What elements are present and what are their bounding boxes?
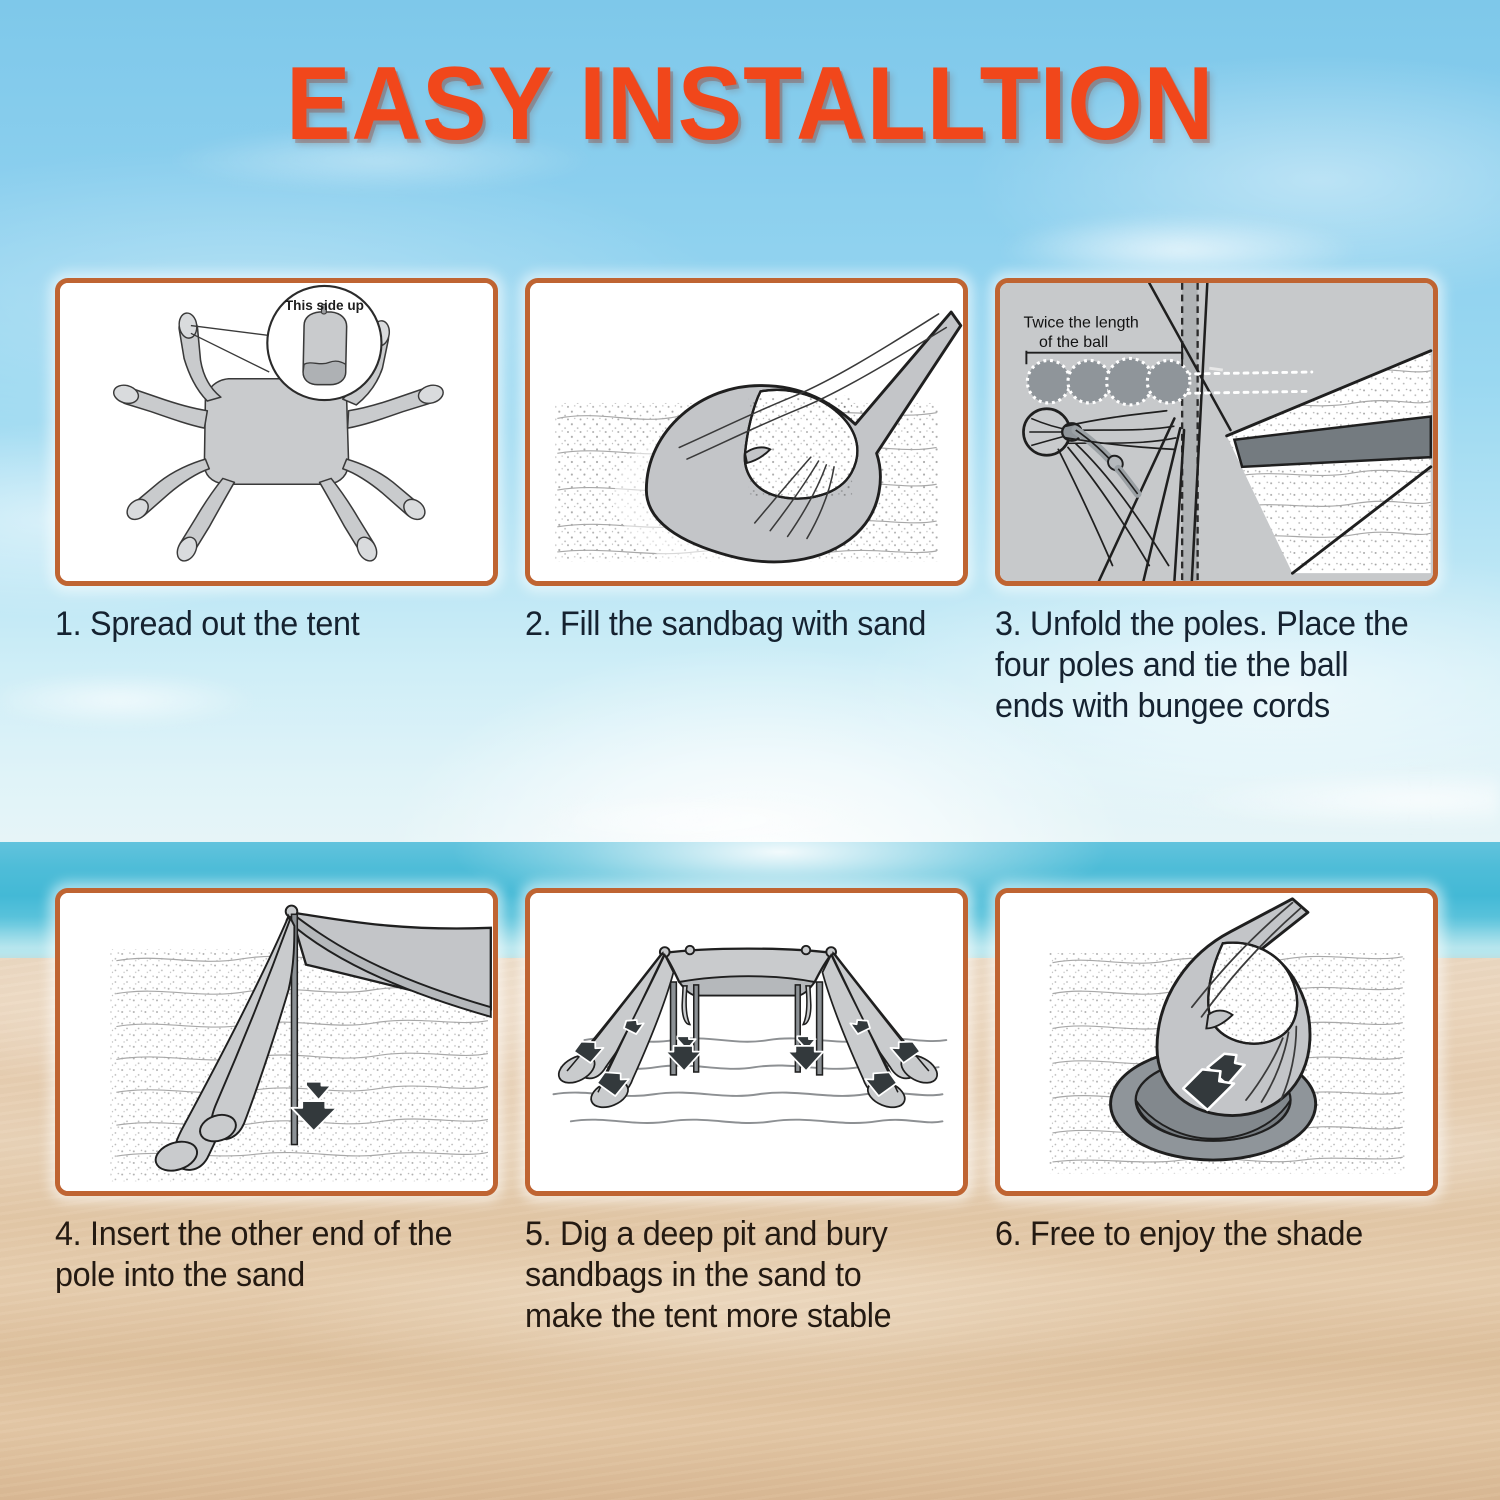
measure-label-line-2: of the ball — [1039, 334, 1108, 351]
steps-row-bottom: 4. Insert the other end of the pole into… — [55, 888, 1447, 1336]
step-2: 2. Fill the sandbag with sand — [525, 278, 968, 726]
steps-grid: This side up 1. Spread out the tent — [0, 0, 1500, 1500]
tent-spread-flat-art: This side up — [60, 283, 493, 581]
step-6: 6. Free to enjoy the shade — [995, 888, 1438, 1336]
page-title-container: EASY INSTALLTION — [0, 52, 1500, 156]
step-1: This side up 1. Spread out the tent — [55, 278, 498, 726]
step-4: 4. Insert the other end of the pole into… — [55, 888, 498, 1336]
step-1-caption: 1. Spread out the tent — [55, 604, 487, 645]
step-5-illustration-panel — [525, 888, 968, 1196]
step-5-caption: 5. Dig a deep pit and bury sandbags in t… — [525, 1214, 953, 1336]
steps-row-top: This side up 1. Spread out the tent — [55, 278, 1447, 726]
step-3-illustration-panel: Twice the length of the ball — [995, 278, 1438, 586]
pole-into-sand-art — [60, 893, 493, 1191]
beach-tent-installation-infographic: EASY INSTALLTION — [0, 0, 1500, 1500]
step-2-illustration-panel — [525, 278, 968, 586]
measure-label-line-1: Twice the length — [1023, 315, 1138, 332]
step-5: 5. Dig a deep pit and bury sandbags in t… — [525, 888, 968, 1336]
step-6-caption: 6. Free to enjoy the shade — [995, 1214, 1427, 1255]
step-4-illustration-panel — [55, 888, 498, 1196]
step-3-caption: 3. Unfold the poles. Place the four pole… — [995, 604, 1427, 726]
step-3: Twice the length of the ball — [995, 278, 1438, 726]
page-title: EASY INSTALLTION — [286, 52, 1214, 156]
tent-erected-anchors-art — [530, 893, 963, 1191]
step-4-caption: 4. Insert the other end of the pole into… — [55, 1214, 502, 1296]
step-1-illustration-panel: This side up — [55, 278, 498, 586]
pole-ball-bungee-art: Twice the length of the ball — [1000, 283, 1433, 581]
sandbag-filling-art — [530, 283, 963, 581]
this-side-up-label: This side up — [285, 298, 364, 313]
step-2-caption: 2. Fill the sandbag with sand — [525, 604, 957, 645]
sandbag-buried-art — [1000, 893, 1433, 1191]
step-6-illustration-panel — [995, 888, 1438, 1196]
